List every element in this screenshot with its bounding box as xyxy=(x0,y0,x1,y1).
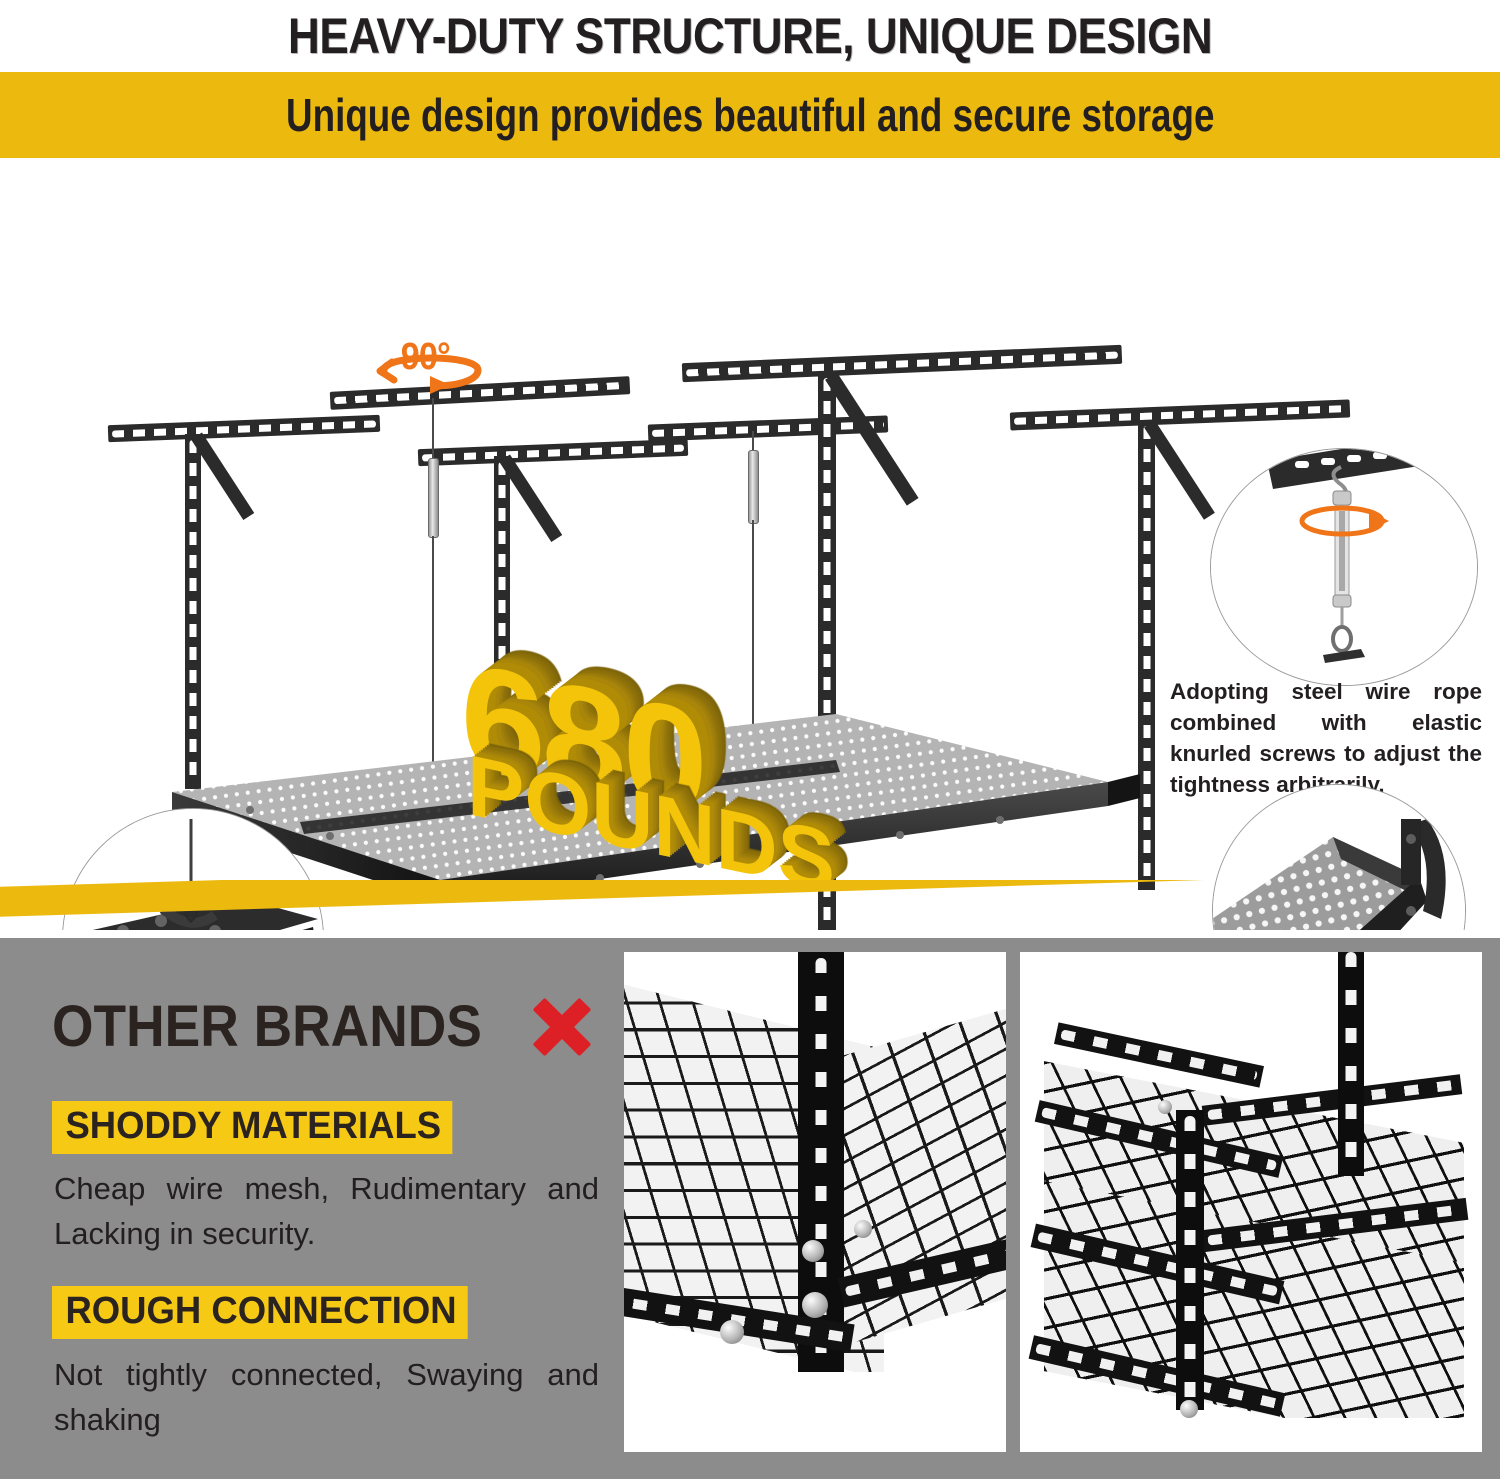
chip-shoddy-materials: SHODDY MATERIALS xyxy=(52,1101,453,1154)
mesh-bolt-1 xyxy=(802,1240,824,1262)
other-brands-label: OTHER BRANDS xyxy=(52,993,482,1060)
turnbuckle-detail-illustration xyxy=(1211,449,1477,685)
body-rough-connection: Not tightly connected, Swaying and shaki… xyxy=(54,1352,599,1442)
weight-capacity-badge: 680 POUNDS xyxy=(455,653,755,898)
hero-product-illustration: 90° xyxy=(0,158,1500,930)
mesh-bolt-3 xyxy=(720,1320,744,1344)
comparison-section: OTHER BRANDS SHODDY MATERIALS Cheap wire… xyxy=(0,938,1500,1479)
caption-wire-rope: Adopting steel wire rope combined with e… xyxy=(1170,676,1482,800)
header-subtitle-bar: Unique design provides beautiful and sec… xyxy=(0,72,1500,158)
mesh-bolt-2 xyxy=(802,1292,828,1318)
rack-bolt-2 xyxy=(1158,1100,1172,1114)
rack-bolt-1 xyxy=(1180,1400,1198,1418)
page-subtitle: Unique design provides beautiful and sec… xyxy=(286,88,1214,142)
cross-x-icon xyxy=(531,996,593,1058)
photo-wire-rack-full xyxy=(1020,952,1482,1452)
divider-bar-yellow xyxy=(0,880,1500,918)
rack-post-center xyxy=(1176,1110,1204,1410)
other-brands-heading: OTHER BRANDS xyxy=(52,993,593,1060)
mesh-bolt-4 xyxy=(854,1220,872,1238)
photo-wire-mesh-closeup xyxy=(624,952,1006,1452)
page-title: HEAVY-DUTY STRUCTURE, UNIQUE DESIGN xyxy=(288,7,1212,65)
body-shoddy-materials: Cheap wire mesh, Rudimentary and Lacking… xyxy=(54,1166,599,1256)
header-title-bar: HEAVY-DUTY STRUCTURE, UNIQUE DESIGN xyxy=(0,0,1500,72)
detail-circle-turnbuckle xyxy=(1210,448,1478,686)
rack-post-right xyxy=(1338,952,1364,1176)
chip-rough-connection: ROUGH CONNECTION xyxy=(52,1286,468,1339)
